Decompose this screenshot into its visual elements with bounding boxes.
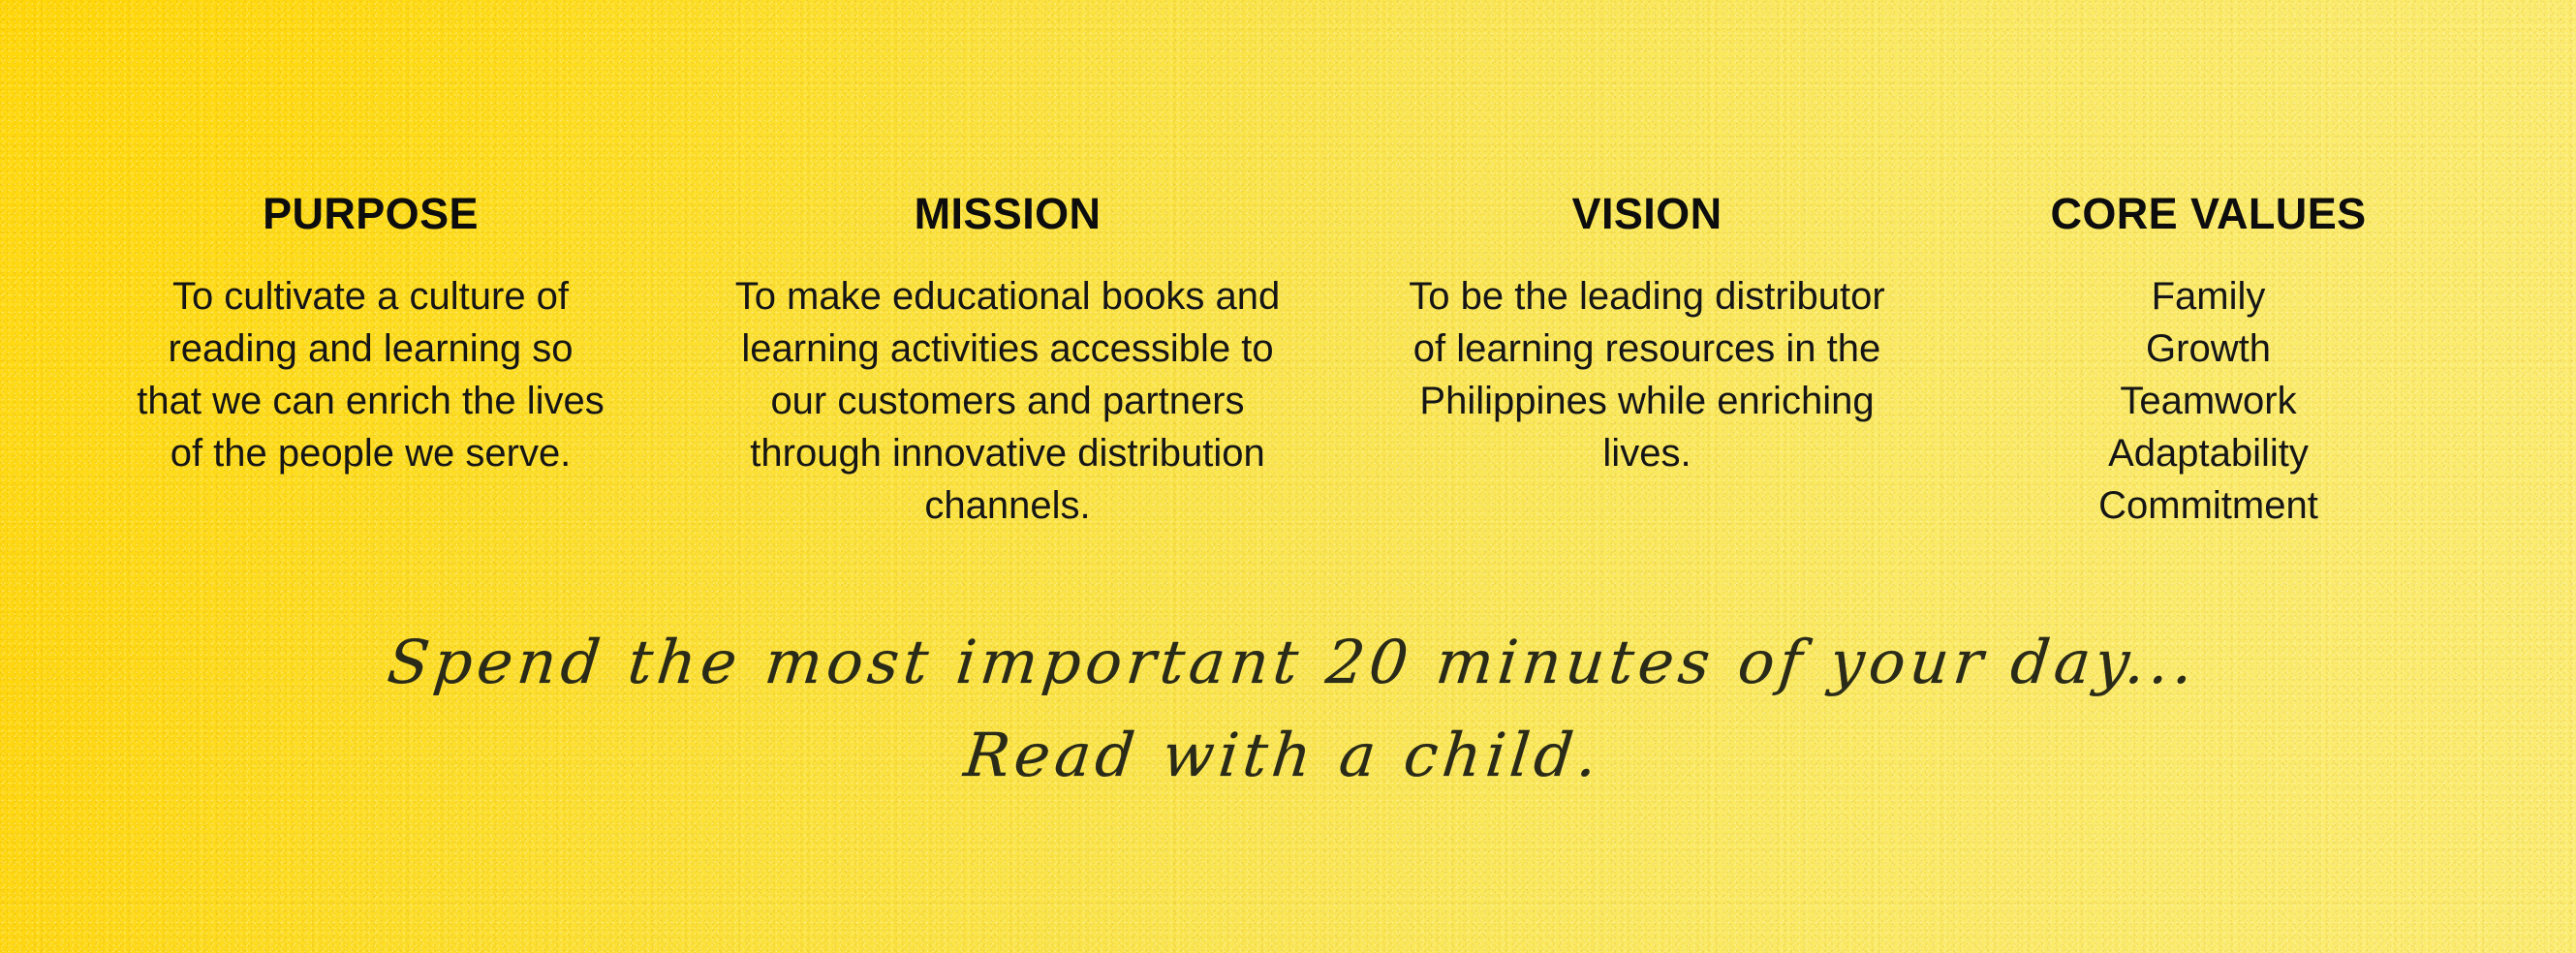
core-value-item: Growth <box>2001 323 2416 375</box>
column-mission: MISSION To make educational books and le… <box>678 192 1337 532</box>
heading-mission: MISSION <box>717 192 1298 235</box>
script-tagline: Spend the most important 20 minutes of y… <box>0 616 2576 802</box>
core-value-item: Teamwork <box>2001 375 2416 427</box>
heading-core-values: CORE VALUES <box>2001 192 2416 235</box>
column-purpose: PURPOSE To cultivate a culture of readin… <box>0 192 678 479</box>
column-core-values: CORE VALUES FamilyGrowthTeamworkAdaptabi… <box>1957 192 2576 532</box>
heading-vision: VISION <box>1390 192 1904 235</box>
core-values-list: FamilyGrowthTeamworkAdaptabilityCommitme… <box>2001 270 2416 532</box>
core-value-item: Commitment <box>2001 479 2416 532</box>
body-vision: To be the leading distributor of learnin… <box>1390 270 1904 479</box>
body-mission: To make educational books and learning a… <box>717 270 1298 532</box>
body-purpose: To cultivate a culture of reading and le… <box>136 270 605 479</box>
core-value-item: Adaptability <box>2001 427 2416 479</box>
heading-purpose: PURPOSE <box>136 192 605 235</box>
values-columns: PURPOSE To cultivate a culture of readin… <box>0 192 2576 532</box>
tagline-line-1: Spend the most important 20 minutes of y… <box>0 616 2576 709</box>
column-vision: VISION To be the leading distributor of … <box>1337 192 1957 479</box>
core-value-item: Family <box>2001 270 2416 323</box>
tagline-line-2: Read with a child. <box>0 709 2576 802</box>
brand-values-poster: PURPOSE To cultivate a culture of readin… <box>0 0 2576 953</box>
